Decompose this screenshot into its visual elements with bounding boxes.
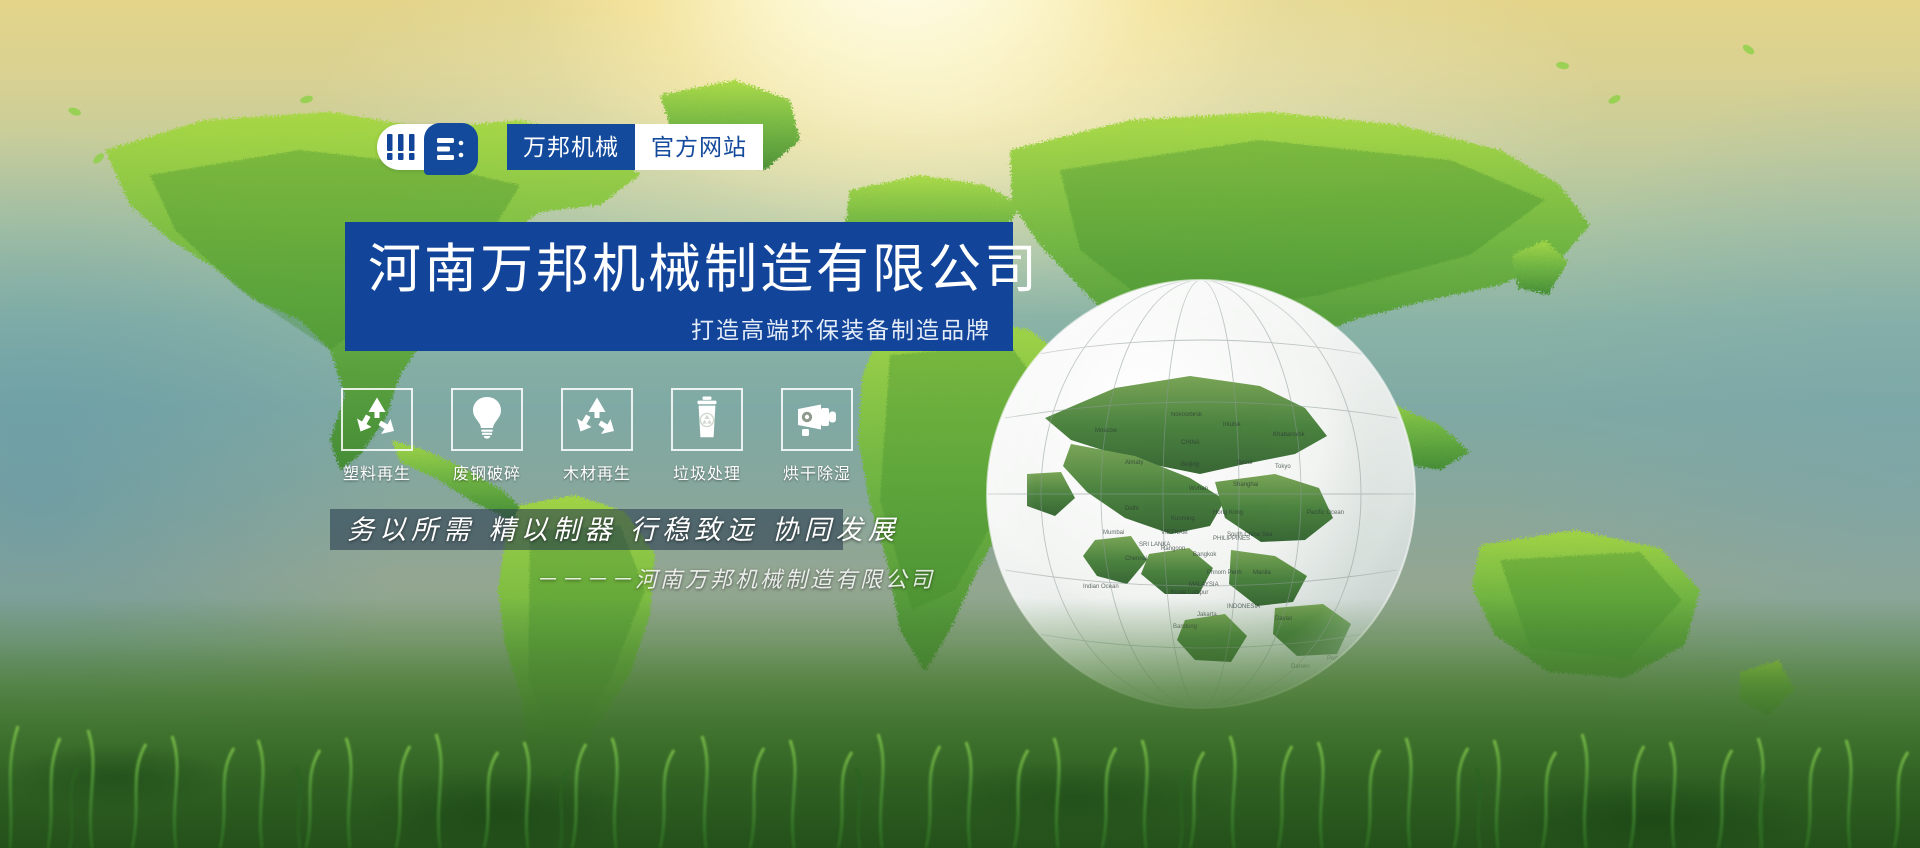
w-monogram-icon (386, 134, 420, 160)
feature-tile (781, 388, 853, 451)
feature-label: 塑料再生 (341, 460, 413, 484)
brand-header: 万邦机械 官方网站 (377, 124, 763, 170)
slogan-text: 务以所需 精以制器 行稳致远 协同发展 (347, 511, 837, 551)
grass-blades (0, 598, 1920, 848)
e-speech-bubble-icon (424, 123, 478, 175)
feature-tile (451, 388, 523, 451)
feature-label: 垃圾处理 (671, 460, 743, 484)
recycle-icon (574, 395, 620, 444)
company-tagline: 打造高端环保装备制造品牌 (368, 311, 991, 345)
feature-item-drying-dehumidifying[interactable]: 烘干除湿 (781, 388, 853, 484)
feature-icon-row: 塑料再生 废钢破碎 (341, 388, 853, 484)
feature-item-scrap-steel-crushing[interactable]: 废钢破碎 (451, 388, 523, 484)
brand-name-secondary: 官方网站 (635, 124, 763, 170)
brand-name-boxes: 万邦机械 官方网站 (507, 124, 763, 170)
feature-label: 废钢破碎 (451, 460, 523, 484)
feature-item-wood-recycling[interactable]: 木材再生 (561, 388, 633, 484)
feature-label: 木材再生 (561, 460, 633, 484)
lightbulb-icon (464, 395, 510, 444)
feature-tile (671, 388, 743, 451)
recycle-icon (354, 395, 400, 444)
feature-item-plastic-recycling[interactable]: 塑料再生 (341, 388, 413, 484)
feature-tile (341, 388, 413, 451)
feature-label: 烘干除湿 (781, 460, 853, 484)
site-logo[interactable] (377, 124, 473, 170)
dryer-blower-icon (794, 395, 840, 444)
feature-item-waste-treatment[interactable]: 垃圾处理 (671, 388, 743, 484)
hero-banner: Moscow Novosibirsk Irkutsk Khabarovsk Al… (0, 0, 1920, 848)
slogan-credit: －－－－河南万邦机械制造有限公司 (470, 562, 1000, 594)
feature-tile (561, 388, 633, 451)
trash-bin-recycle-icon (684, 395, 730, 444)
hero-title-panel: 河南万邦机械制造有限公司 打造高端环保装备制造品牌 (345, 222, 1013, 351)
company-name: 河南万邦机械制造有限公司 (368, 240, 991, 299)
grass-foreground (0, 598, 1920, 848)
brand-name-primary: 万邦机械 (507, 124, 635, 170)
